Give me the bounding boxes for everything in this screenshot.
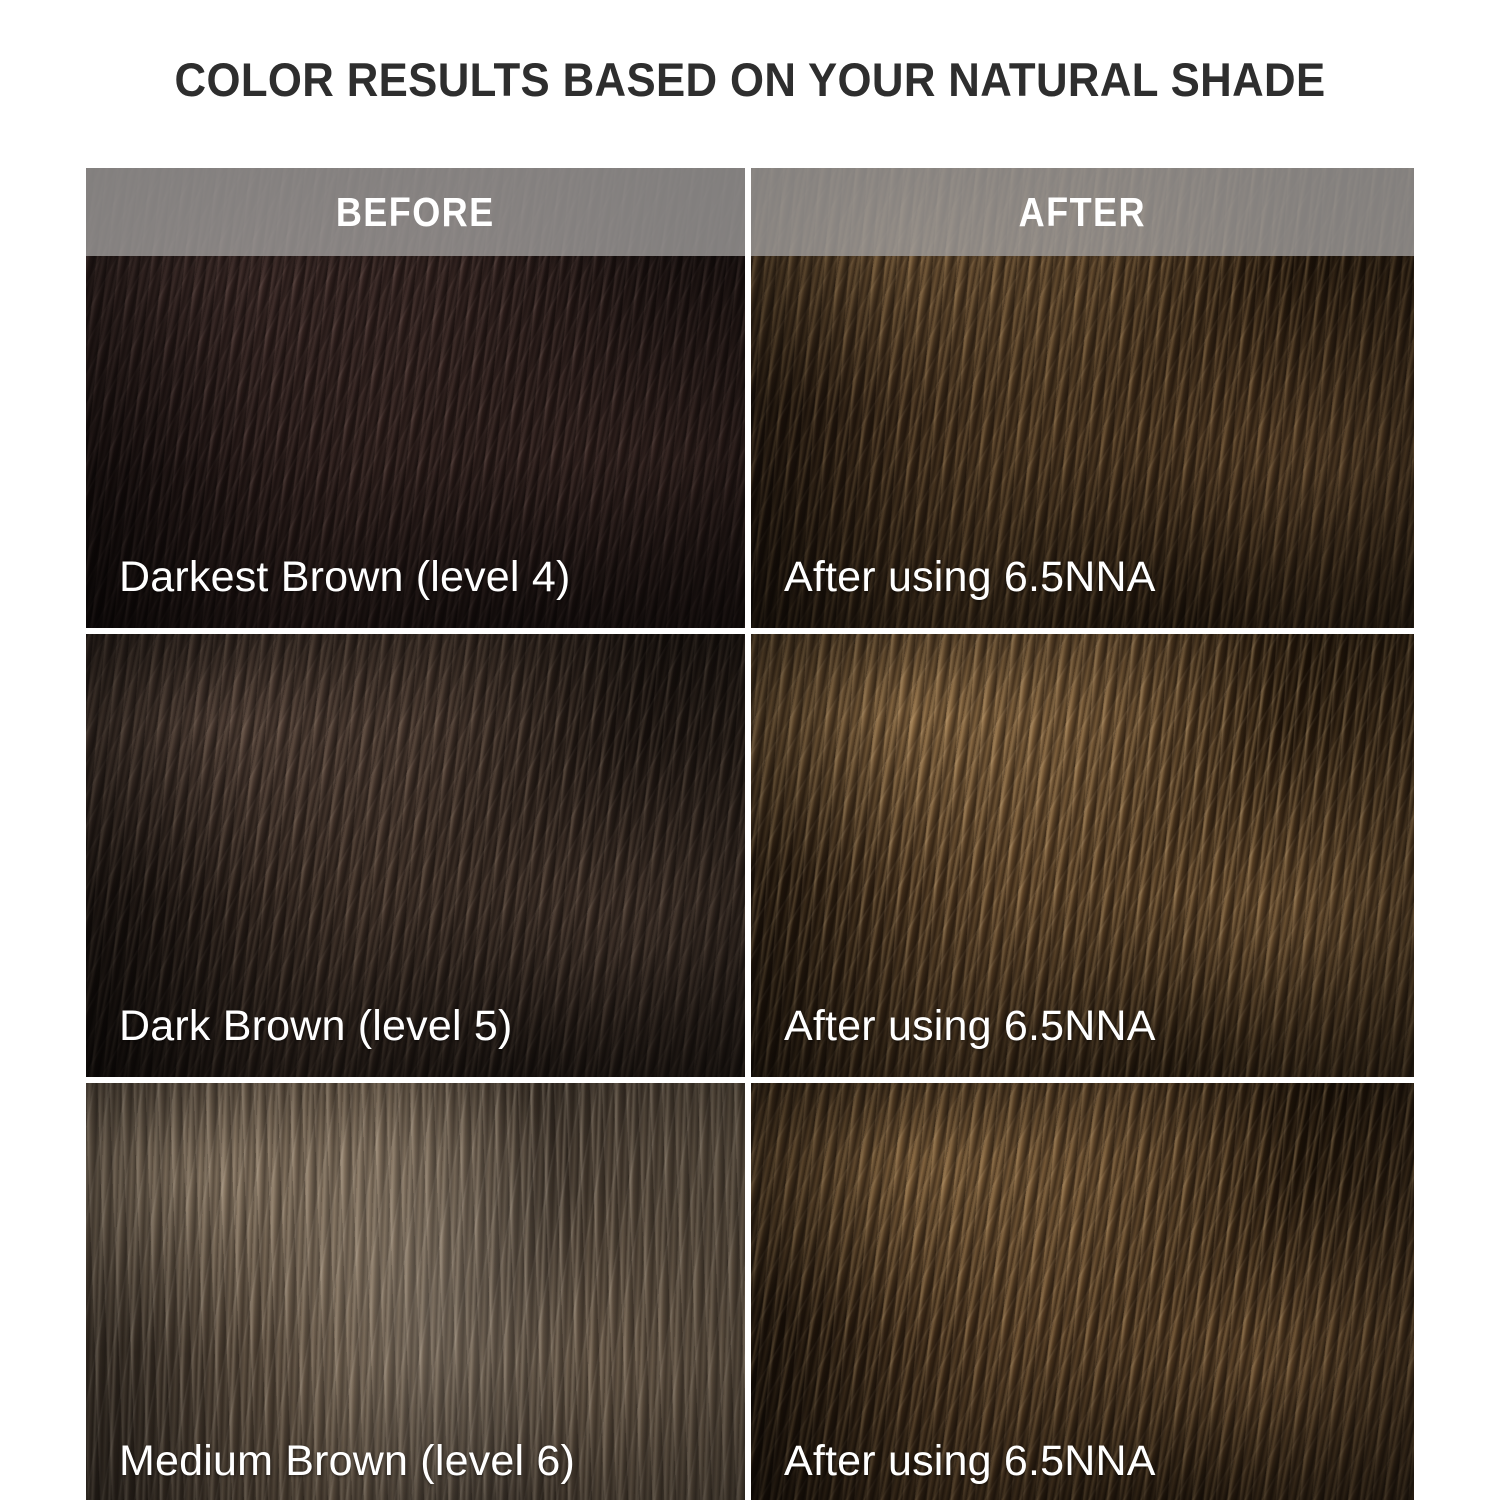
column-header-after: AFTER [751,168,1414,256]
comparison-row: Dark Brown (level 5) After using 6.5NNA [86,634,1414,1077]
cell-before-level5[interactable]: Dark Brown (level 5) [86,634,745,1077]
caption-before-level4: Darkest Brown (level 4) [119,553,570,602]
cell-after-level4[interactable]: AFTER After using 6.5NNA [751,168,1414,628]
comparison-row: BEFORE Darkest Brown (level 4) AFTER Aft… [86,168,1414,628]
caption-before-level5: Dark Brown (level 5) [119,1002,513,1051]
comparison-row: Medium Brown (level 6) After using 6.5NN… [86,1083,1414,1500]
caption-after-level4: After using 6.5NNA [784,553,1156,602]
cell-after-level5[interactable]: After using 6.5NNA [751,634,1414,1077]
cell-before-level4[interactable]: BEFORE Darkest Brown (level 4) [86,168,745,628]
column-header-after-label: AFTER [1019,189,1146,236]
caption-after-level5: After using 6.5NNA [784,1002,1156,1051]
caption-before-level6: Medium Brown (level 6) [119,1437,575,1486]
cell-before-level6[interactable]: Medium Brown (level 6) [86,1083,745,1500]
page-title: COLOR RESULTS BASED ON YOUR NATURAL SHAD… [53,52,1448,107]
cell-after-level6[interactable]: After using 6.5NNA [751,1083,1414,1500]
color-results-infographic: COLOR RESULTS BASED ON YOUR NATURAL SHAD… [0,0,1500,1500]
caption-after-level6: After using 6.5NNA [784,1437,1156,1486]
column-header-before-label: BEFORE [336,189,495,236]
column-header-before: BEFORE [86,168,745,256]
before-after-grid: BEFORE Darkest Brown (level 4) AFTER Aft… [86,168,1414,1500]
